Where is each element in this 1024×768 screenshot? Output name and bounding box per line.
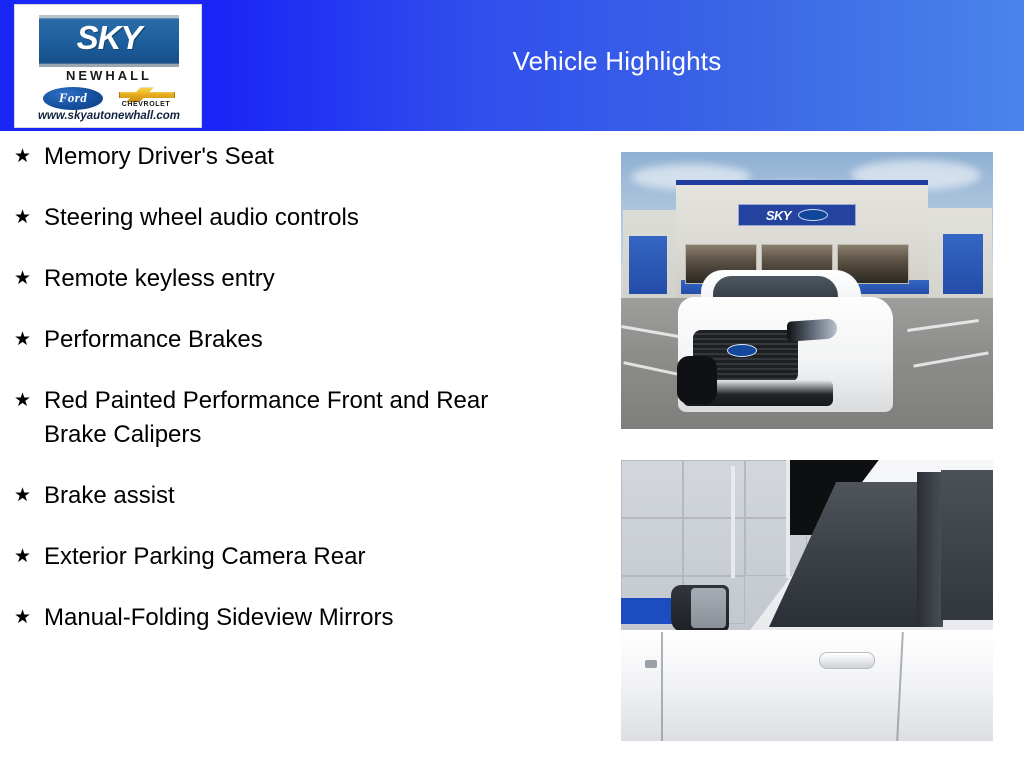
dealership-sign: SKY [738,204,856,226]
door-badge-icon [645,660,657,668]
list-item-label: Memory Driver's Seat [44,140,544,174]
door-handle [819,652,875,669]
star-bullet-icon: ★ [14,323,44,357]
dealership-sign-text: SKY [766,208,791,223]
b-pillar [917,472,943,627]
window-mullion [731,466,735,578]
list-item: ★ Memory Driver's Seat [0,140,600,174]
logo-website-text: www.skyautonewhall.com [15,110,202,122]
list-item: ★ Exterior Parking Camera Rear [0,540,600,574]
list-item-label: Performance Brakes [44,323,544,357]
star-bullet-icon: ★ [14,479,44,513]
vehicle-highlights-list: ★ Memory Driver's Seat ★ Steering wheel … [0,140,600,662]
chevrolet-badge: CHEVROLET [116,86,176,111]
vehicle-photo-exterior-front: SKY [621,152,993,429]
building-roofline [676,180,928,185]
list-item: ★ Remote keyless entry [0,262,600,296]
list-item-label: Red Painted Performance Front and Rear B… [44,384,544,452]
rear-door-window [941,470,993,620]
wall-tile [683,460,745,518]
vehicle-door-panel [621,630,993,741]
door-seam [661,632,663,741]
sideview-mirror-glass [691,588,726,628]
page-title: Vehicle Highlights [210,0,1024,131]
logo-location-text: NEWHALL [15,68,202,83]
list-item-label: Steering wheel audio controls [44,201,544,235]
list-item: ★ Steering wheel audio controls [0,201,600,235]
vehicle-photo-side-mirror [621,460,993,741]
star-bullet-icon: ★ [14,540,44,574]
list-item: ★ Manual-Folding Sideview Mirrors [0,601,600,635]
star-bullet-icon: ★ [14,262,44,296]
chevrolet-wordmark: CHEVROLET [116,101,176,108]
list-item: ★ Brake assist [0,479,600,513]
star-bullet-icon: ★ [14,140,44,174]
list-item: ★ Performance Brakes [0,323,600,357]
star-bullet-icon: ★ [14,601,44,635]
ford-oval-icon [798,209,828,221]
wall-tile [621,518,683,576]
ford-oval-icon: Ford [42,86,104,111]
star-bullet-icon: ★ [14,384,44,418]
building-blue-panel [943,234,983,294]
ford-oval-icon [727,344,757,357]
logo-brand-text: SKY [39,19,179,57]
list-item-label: Exterior Parking Camera Rear [44,540,544,574]
list-item-label: Manual-Folding Sideview Mirrors [44,601,544,635]
list-item-label: Remote keyless entry [44,262,544,296]
dealer-logo[interactable]: SKY NEWHALL Ford CHEVROLET www.skyautone… [14,4,202,128]
star-bullet-icon: ★ [14,201,44,235]
logo-badge-row: Ford CHEVROLET [15,85,202,111]
headlight [787,318,837,341]
logo-sky-plate: SKY [39,15,179,67]
building-blue-panel [629,236,667,294]
window-mullion [786,460,790,578]
wheel [677,356,717,404]
list-item: ★ Red Painted Performance Front and Rear… [0,384,600,452]
wall-tile [621,460,683,518]
wall-tile [683,518,745,576]
ford-wordmark: Ford [59,90,87,106]
list-item-label: Brake assist [44,479,544,513]
